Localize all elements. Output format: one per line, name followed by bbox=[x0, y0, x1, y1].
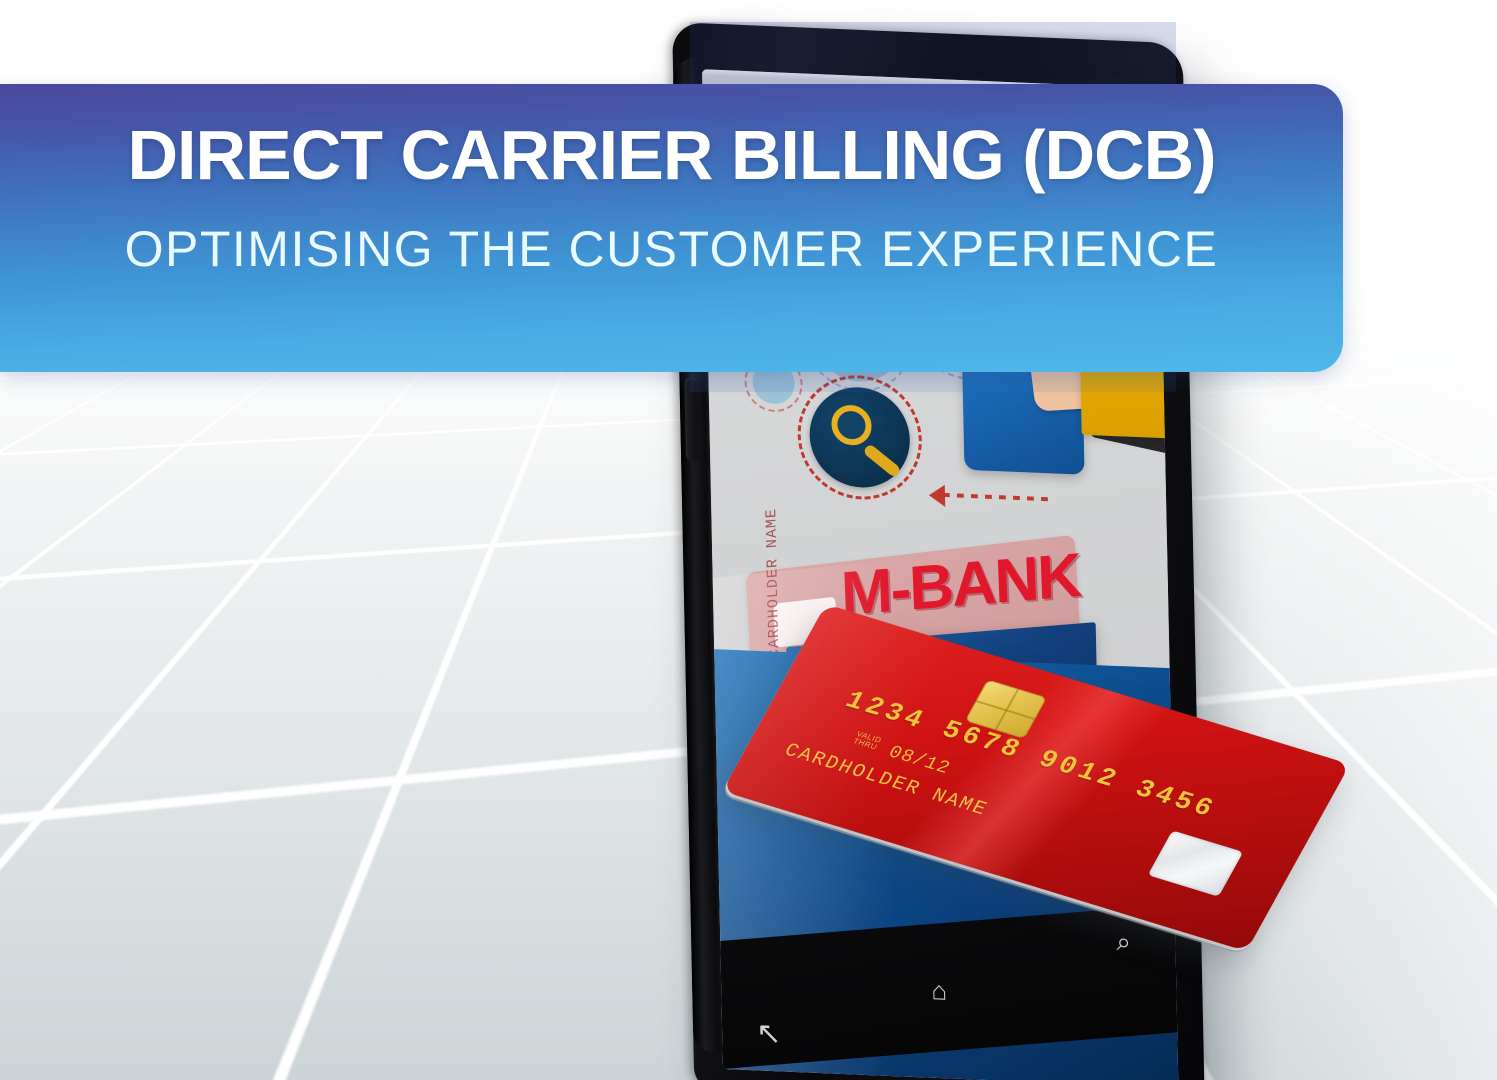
hologram-patch-icon bbox=[1148, 830, 1244, 896]
magnifier-handle bbox=[862, 443, 901, 478]
red-dotted-connector bbox=[943, 493, 1051, 502]
volume-rocker-button[interactable] bbox=[684, 377, 699, 462]
slide-canvas: CARDHOLDER NAME M-BANK ↖ ⌂ ⌕ bbox=[0, 0, 1497, 1080]
page-subtitle: OPTIMISING THE CUSTOMER EXPERIENCE bbox=[0, 224, 1343, 274]
search-icon[interactable]: ⌕ bbox=[1117, 928, 1132, 955]
title-banner: DIRECT CARRIER BILLING (DCB) OPTIMISING … bbox=[0, 84, 1343, 372]
back-arrow-icon[interactable]: ↖ bbox=[756, 1019, 782, 1050]
page-title: DIRECT CARRIER BILLING (DCB) bbox=[0, 120, 1343, 190]
magnifier-lens bbox=[831, 404, 872, 446]
home-icon[interactable]: ⌂ bbox=[931, 977, 947, 1004]
